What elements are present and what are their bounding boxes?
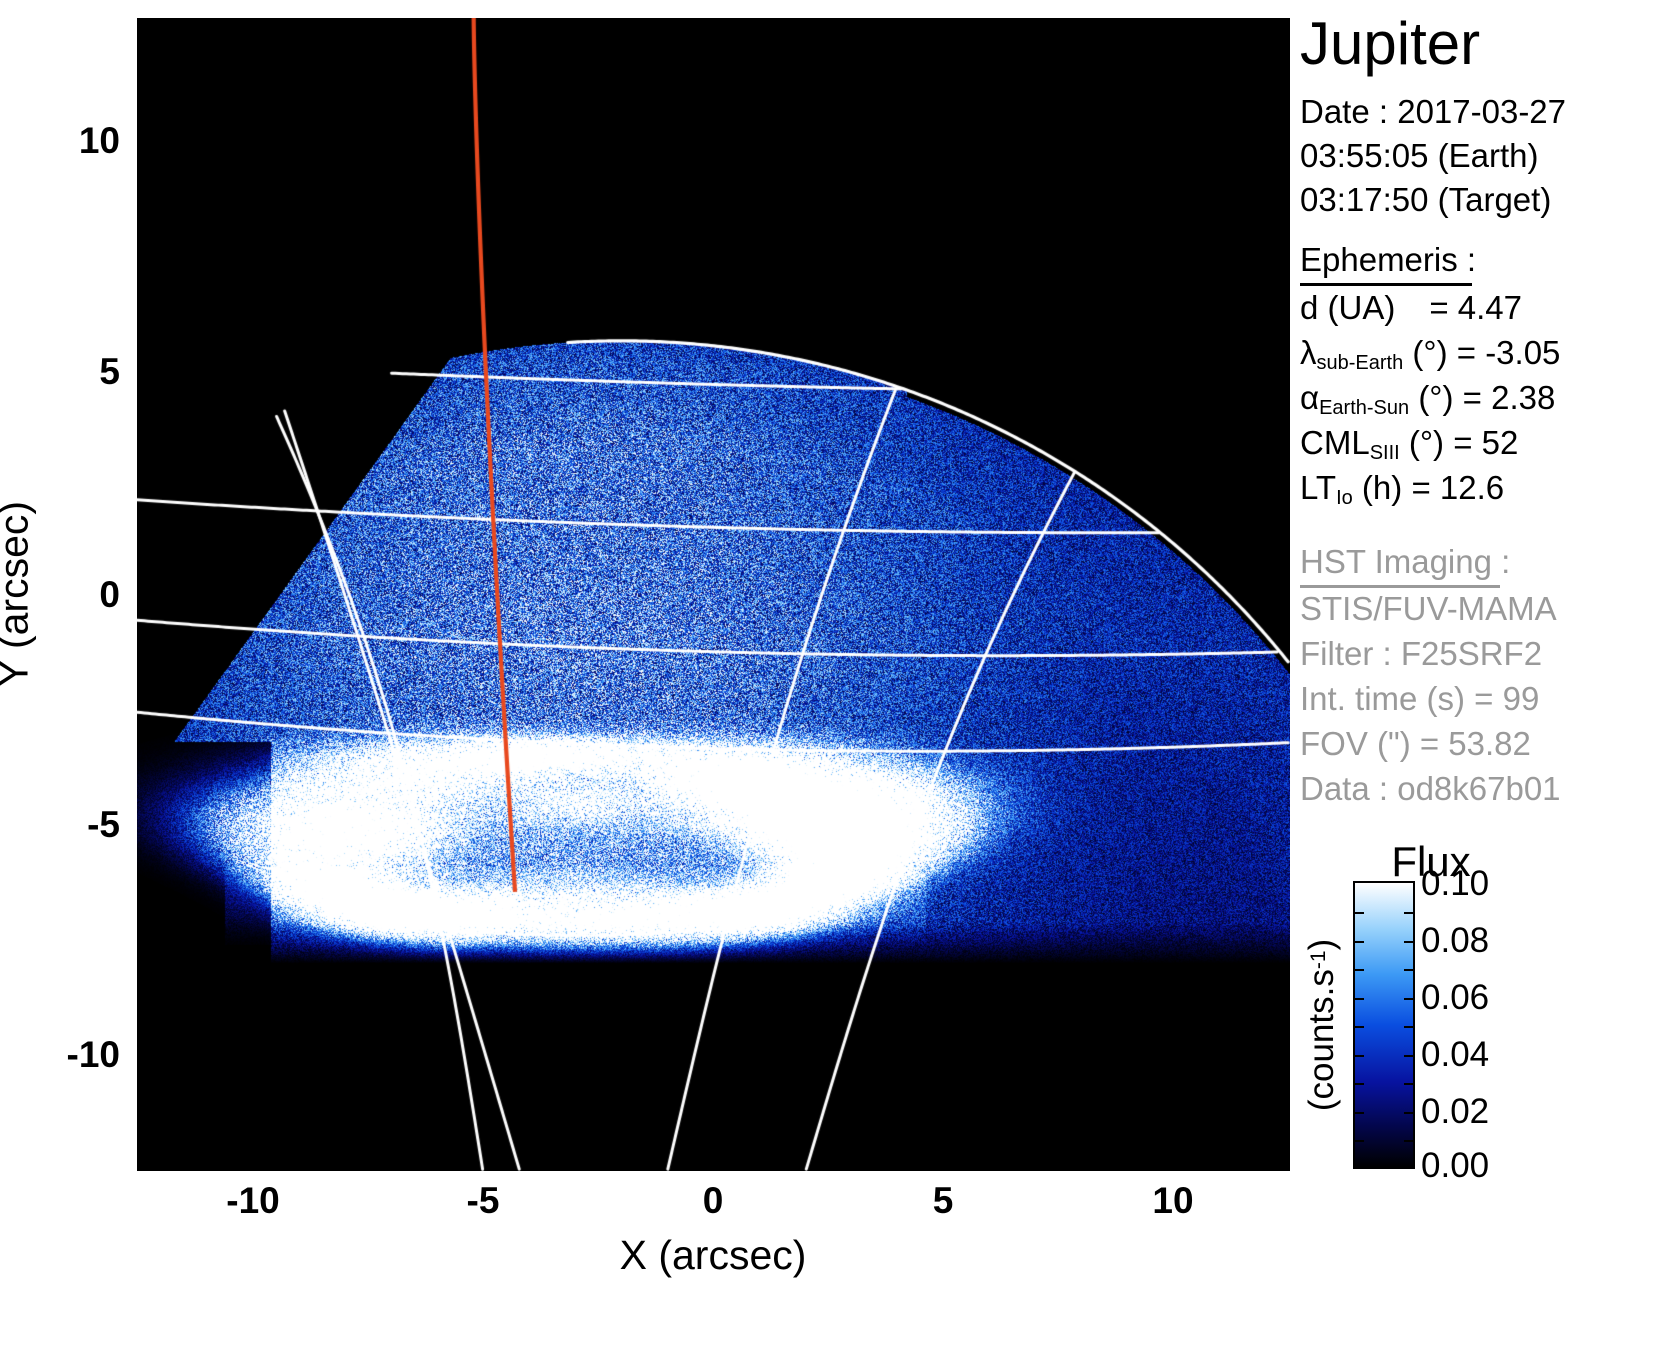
cb-tick-004: 0.04 [1421, 1035, 1489, 1075]
ephemeris-underline [1300, 283, 1472, 286]
ephemeris-distance: d (UA)= 4.47 [1300, 291, 1522, 324]
lambda-subscript: sub-Earth [1317, 352, 1404, 374]
ephemeris-lt: LTIo (h) = 12.6 [1300, 471, 1504, 508]
alpha-value: = 2.38 [1463, 379, 1556, 416]
hst-imaging-underline [1300, 585, 1500, 588]
cb-tick-000: 0.00 [1421, 1146, 1489, 1186]
hst-int-time: Int. time (s) = 99 [1300, 682, 1539, 715]
x-axis-title: X (arcsec) [620, 1232, 807, 1279]
lambda-unit: (°) [1412, 334, 1447, 371]
flux-colorbar [1353, 881, 1415, 1169]
y-tick-5: 5 [99, 351, 120, 393]
observation-time-earth: 03:55:05 (Earth) [1300, 139, 1538, 172]
colorbar-axis-title: (counts.s-1) [1302, 939, 1342, 1111]
ephemeris-cml: CMLSIII (°) = 52 [1300, 426, 1518, 463]
page-title: Jupiter [1300, 14, 1480, 74]
hst-instrument: STIS/FUV-MAMA [1300, 592, 1557, 625]
hst-data-id: Data : od8k67b01 [1300, 772, 1561, 805]
y-tick-0: 0 [99, 574, 120, 616]
cb-unit-main: (counts.s [1302, 969, 1341, 1111]
lt-subscript: Io [1336, 487, 1353, 509]
cml-subscript: SIII [1370, 442, 1400, 464]
lt-unit: (h) [1362, 469, 1402, 506]
cb-tick-006: 0.06 [1421, 978, 1489, 1018]
ephemeris-lambda: λsub-Earth (°) = -3.05 [1300, 336, 1560, 373]
ephemeris-alpha: αEarth-Sun (°) = 2.38 [1300, 381, 1555, 418]
lt-value: = 12.6 [1411, 469, 1504, 506]
cml-label: CML [1300, 424, 1370, 461]
cb-tick-010: 0.10 [1421, 864, 1489, 904]
lambda-symbol: λ [1300, 334, 1317, 371]
cb-tick-008: 0.08 [1421, 921, 1489, 961]
cb-tick-002: 0.02 [1421, 1092, 1489, 1132]
x-tick-10: 10 [1152, 1180, 1193, 1222]
observation-date: Date : 2017-03-27 [1300, 95, 1566, 128]
hst-filter: Filter : F25SRF2 [1300, 637, 1542, 670]
observation-time-target: 03:17:50 (Target) [1300, 183, 1551, 216]
cb-unit-end: ) [1302, 939, 1341, 951]
ephemeris-distance-label: d (UA) [1300, 289, 1395, 326]
x-tick-m10: -10 [226, 1180, 279, 1222]
hst-imaging-heading: HST Imaging : [1300, 545, 1510, 578]
x-tick-0: 0 [703, 1180, 724, 1222]
ephemeris-heading: Ephemeris : [1300, 243, 1476, 276]
alpha-symbol: α [1300, 379, 1319, 416]
jupiter-aurora-canvas [137, 18, 1290, 1171]
ephemeris-distance-value: = 4.47 [1429, 289, 1522, 326]
x-tick-m5: -5 [467, 1180, 500, 1222]
y-tick-labels: 10 5 0 -5 -10 [0, 0, 128, 1367]
y-tick-m5: -5 [87, 804, 120, 846]
cb-unit-exp: -1 [1307, 950, 1330, 969]
lambda-value: = -3.05 [1457, 334, 1561, 371]
cml-unit: (°) [1409, 424, 1444, 461]
alpha-subscript: Earth-Sun [1319, 397, 1409, 419]
x-tick-5: 5 [933, 1180, 954, 1222]
aurora-image-plot [137, 18, 1290, 1171]
y-tick-10: 10 [79, 120, 120, 162]
y-tick-m10: -10 [67, 1034, 120, 1076]
hst-fov: FOV (") = 53.82 [1300, 727, 1531, 760]
lt-label: LT [1300, 469, 1336, 506]
cml-value: = 52 [1453, 424, 1518, 461]
alpha-unit: (°) [1418, 379, 1453, 416]
